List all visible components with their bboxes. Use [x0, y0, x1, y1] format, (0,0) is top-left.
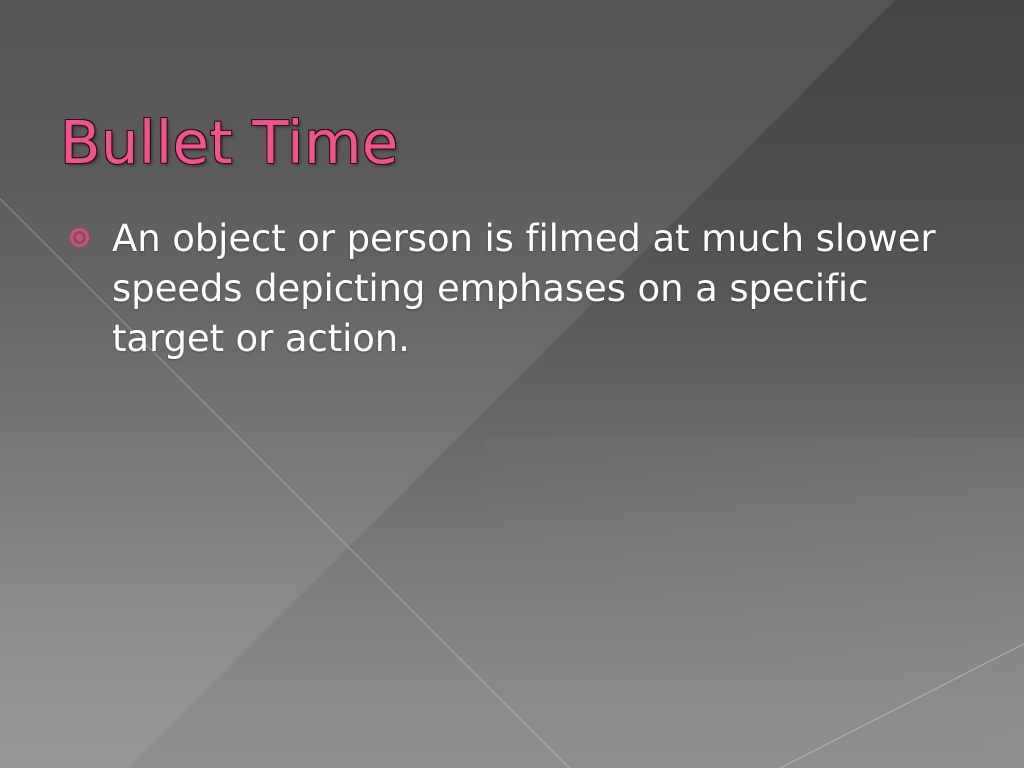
bullet-marker: [70, 214, 112, 247]
list-item: An object or person is filmed at much sl…: [70, 214, 970, 364]
slide-title: Bullet Time: [60, 112, 399, 174]
target-dot-icon: [70, 228, 89, 247]
presentation-slide: Bullet Time An object or person is filme…: [0, 0, 1024, 768]
bullet-text: An object or person is filmed at much sl…: [112, 214, 952, 364]
slide-body-bullet-list: An object or person is filmed at much sl…: [70, 214, 970, 364]
